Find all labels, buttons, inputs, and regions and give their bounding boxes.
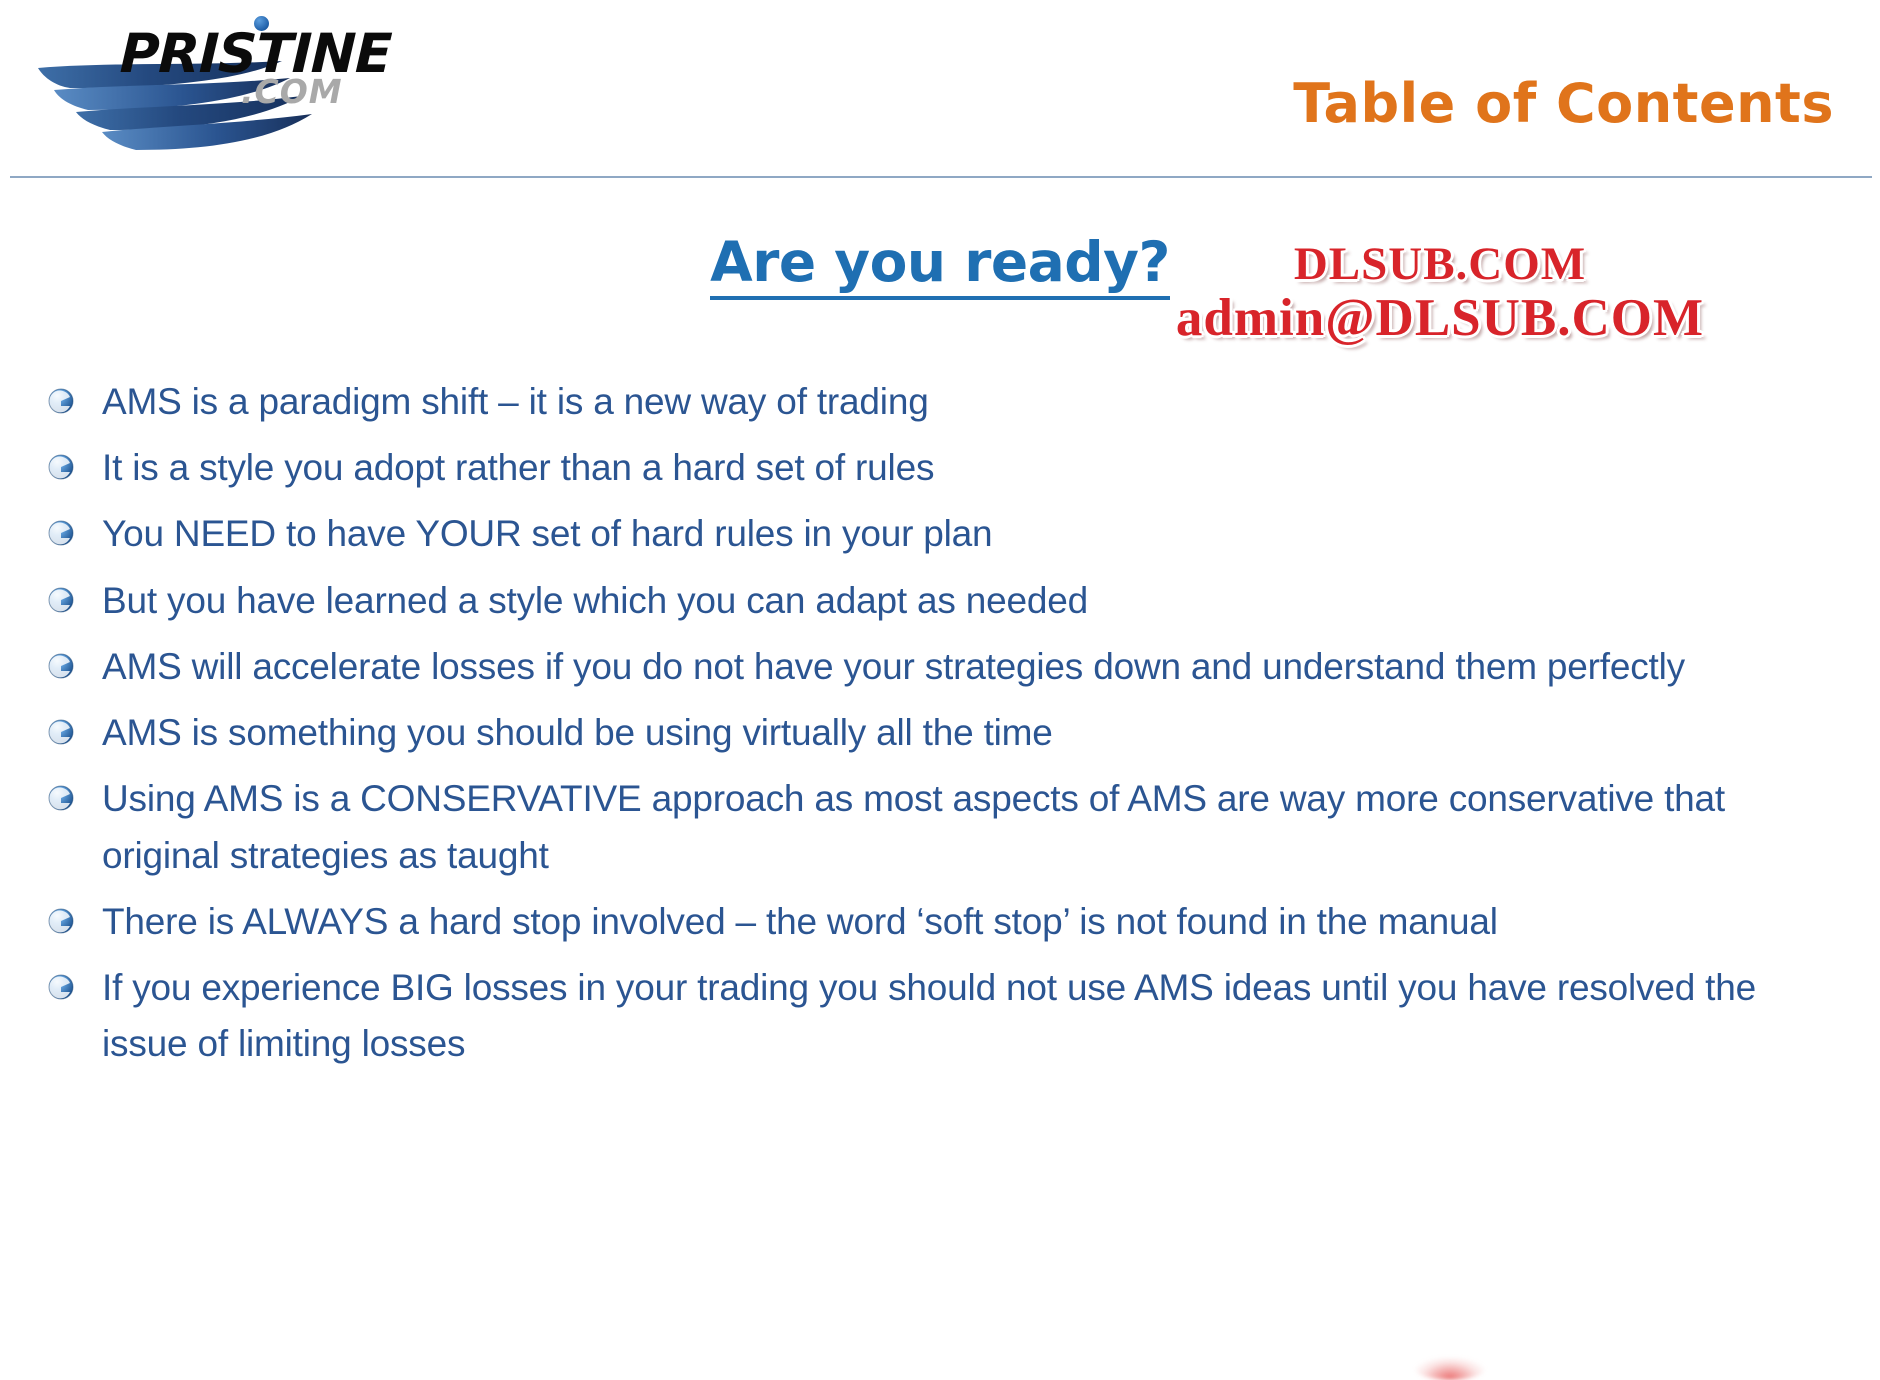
logo-dot-icon: [254, 16, 269, 31]
bottom-watermark-edge: [1415, 1358, 1485, 1380]
slide-heading: Are you ready?: [0, 230, 1880, 294]
list-item-text: AMS is something you should be using vir…: [102, 712, 1053, 753]
list-item: AMS will accelerate losses if you do not…: [34, 639, 1834, 695]
blue-sphere-bullet-icon: [48, 587, 74, 613]
blue-sphere-bullet-icon: [48, 388, 74, 414]
brand-logo[interactable]: PRISTINE .COM: [36, 6, 436, 156]
list-item: But you have learned a style which you c…: [34, 573, 1834, 629]
blue-sphere-bullet-icon: [48, 719, 74, 745]
blue-sphere-bullet-icon: [48, 454, 74, 480]
page-title: Table of Contents: [1293, 72, 1834, 135]
list-item: You NEED to have YOUR set of hard rules …: [34, 506, 1834, 562]
list-item-text: But you have learned a style which you c…: [102, 580, 1088, 621]
list-item-text: It is a style you adopt rather than a ha…: [102, 447, 934, 488]
list-item: AMS is a paradigm shift – it is a new wa…: [34, 374, 1834, 430]
bullet-list: AMS is a paradigm shift – it is a new wa…: [34, 374, 1834, 1083]
list-item: It is a style you adopt rather than a ha…: [34, 440, 1834, 496]
list-item: If you experience BIG losses in your tra…: [34, 960, 1834, 1072]
blue-sphere-bullet-icon: [48, 785, 74, 811]
slide-header: PRISTINE .COM Table of Contents: [0, 0, 1880, 178]
list-item: Using AMS is a CONSERVATIVE approach as …: [34, 771, 1834, 883]
list-item: AMS is something you should be using vir…: [34, 705, 1834, 761]
blue-sphere-bullet-icon: [48, 908, 74, 934]
list-item-text: There is ALWAYS a hard stop involved – t…: [102, 901, 1498, 942]
blue-sphere-bullet-icon: [48, 974, 74, 1000]
blue-sphere-bullet-icon: [48, 520, 74, 546]
list-item: There is ALWAYS a hard stop involved – t…: [34, 894, 1834, 950]
logo-com-suffix: .COM: [241, 72, 343, 111]
list-item-text: If you experience BIG losses in your tra…: [102, 967, 1756, 1064]
slide-heading-text: Are you ready?: [710, 230, 1170, 300]
list-item-text: AMS is a paradigm shift – it is a new wa…: [102, 381, 929, 422]
list-item-text: You NEED to have YOUR set of hard rules …: [102, 513, 992, 554]
blue-sphere-bullet-icon: [48, 653, 74, 679]
list-item-text: Using AMS is a CONSERVATIVE approach as …: [102, 778, 1725, 875]
header-divider: [10, 176, 1872, 178]
list-item-text: AMS will accelerate losses if you do not…: [102, 646, 1685, 687]
